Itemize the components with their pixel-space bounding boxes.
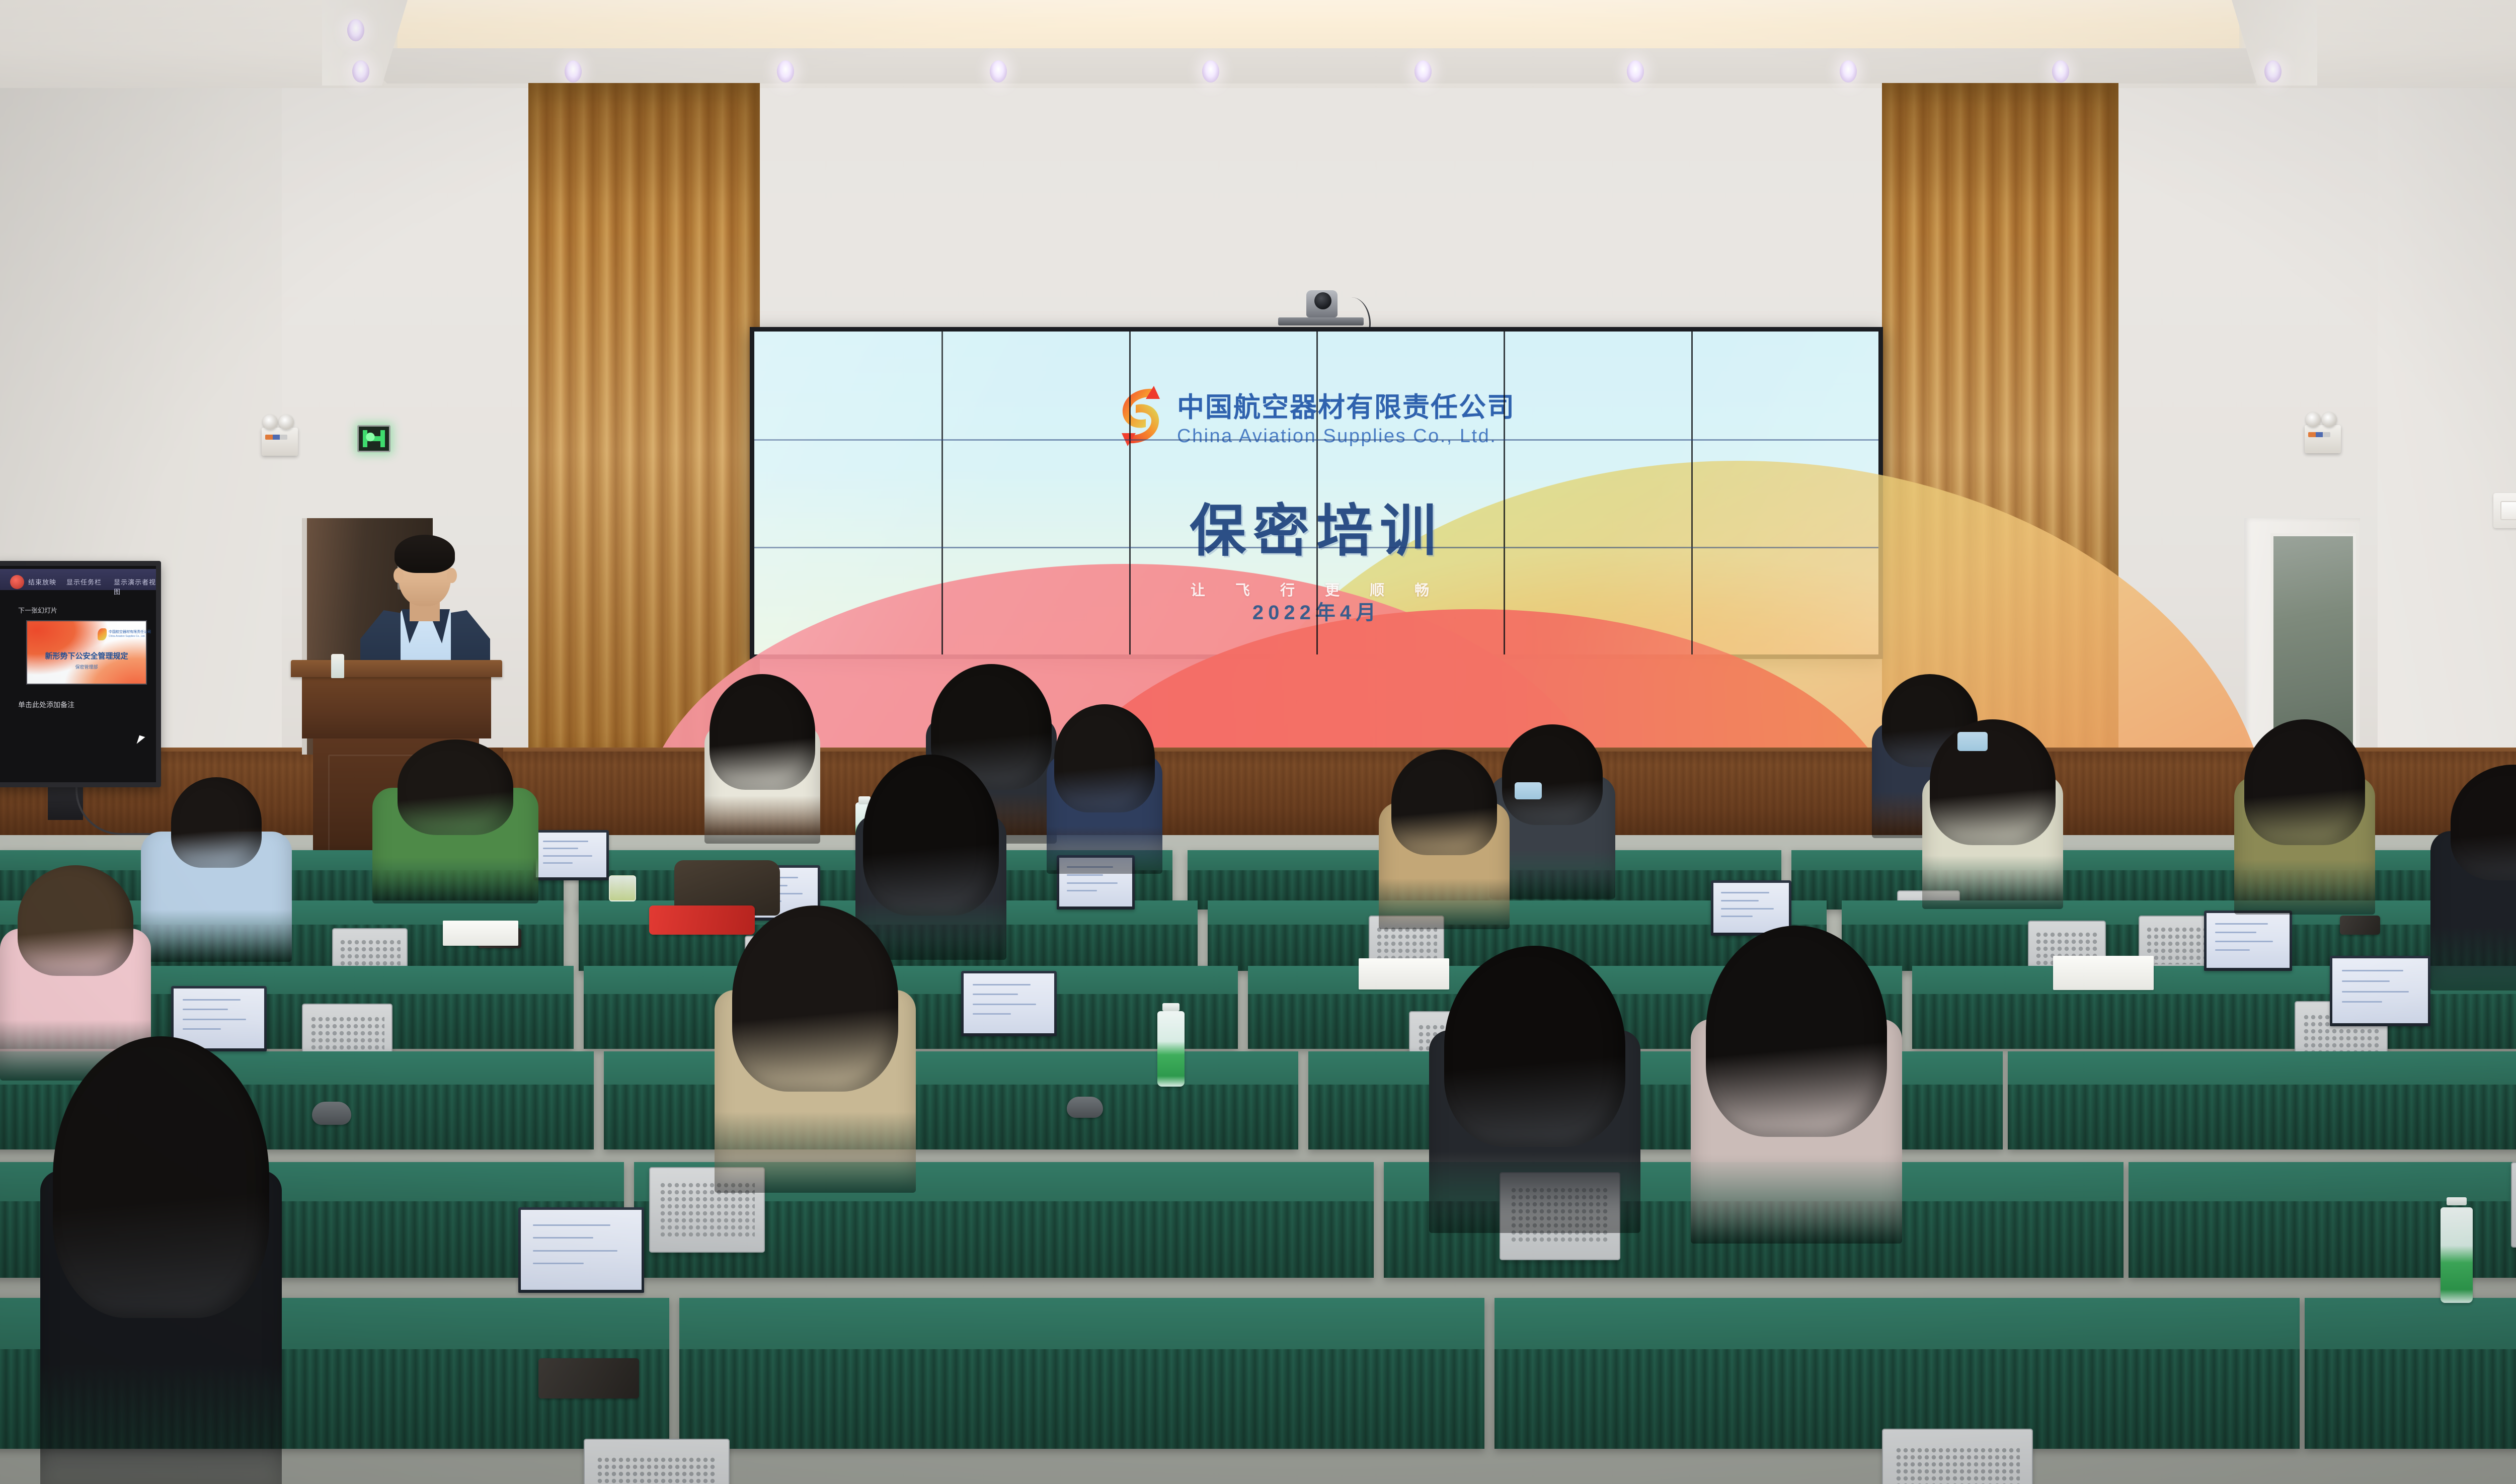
person-head bbox=[1930, 719, 2056, 845]
curtain-right bbox=[1882, 83, 2118, 752]
video-wall-frame bbox=[750, 327, 1883, 659]
person-head bbox=[1706, 926, 1887, 1137]
person-head bbox=[1444, 946, 1625, 1147]
desk-row6-seg4 bbox=[2305, 1298, 2516, 1449]
person-woman-olive-coat-right bbox=[2234, 719, 2375, 911]
running-man-icon bbox=[363, 430, 385, 447]
presenter-notes-placeholder[interactable]: 单击此处添加备注 bbox=[18, 700, 74, 710]
curtain-left bbox=[528, 83, 760, 752]
speaker-ear-left bbox=[394, 568, 404, 583]
phone-1[interactable] bbox=[538, 1358, 639, 1398]
tea-cup-1 bbox=[609, 875, 636, 901]
downlight-6 bbox=[1414, 60, 1432, 83]
person-head bbox=[1502, 724, 1603, 825]
thumbnail-company-cn: 中国航空器材有限责任公司 bbox=[109, 629, 151, 634]
desk-row4-seg4 bbox=[2008, 1051, 2516, 1149]
water-bottle-4 bbox=[2441, 1207, 2473, 1303]
person-woman-tan-coat bbox=[1379, 750, 1510, 926]
speaker-hair bbox=[395, 535, 455, 573]
next-slide-thumbnail[interactable]: 中国航空器材有限责任公司 China Aviation Supplies Co.… bbox=[26, 620, 147, 685]
presenter-toolbar-label-2[interactable]: 显示任务栏 bbox=[66, 577, 102, 587]
video-wall-panel-r1c5[interactable] bbox=[1505, 332, 1691, 438]
desk-top bbox=[1495, 1298, 2300, 1349]
desk-skirt bbox=[604, 1085, 1298, 1149]
video-wall-panel-r2c2[interactable] bbox=[942, 440, 1128, 546]
presenter-toolbar-label-3[interactable]: 显示演示者视图 bbox=[114, 577, 156, 596]
presenter-toolbar-label-1[interactable]: 结束放映 bbox=[28, 577, 56, 587]
mouse-2[interactable] bbox=[1067, 1097, 1103, 1118]
phone-3[interactable] bbox=[2340, 916, 2380, 935]
desk-row6-seg2 bbox=[679, 1298, 1484, 1449]
thumbnail-title: 新形势下公安全管理规定 bbox=[27, 650, 146, 661]
person-head bbox=[171, 777, 262, 868]
emergency-light-indicator bbox=[265, 435, 287, 440]
laptop-screen bbox=[964, 973, 1054, 1033]
ceiling-cove-light bbox=[398, 0, 2239, 54]
ptz-camera-icon bbox=[1278, 289, 1364, 329]
record-icon[interactable] bbox=[10, 575, 24, 589]
person-head bbox=[53, 1036, 269, 1318]
video-wall-panel-r2c6[interactable] bbox=[1692, 440, 1878, 546]
video-wall-panel-r1c1[interactable] bbox=[754, 332, 940, 438]
face-mask-2 bbox=[1515, 782, 1542, 799]
person-head bbox=[710, 674, 815, 790]
thumbnail-subtitle: 保密管理部 bbox=[27, 664, 146, 670]
camera-lens-icon bbox=[1314, 292, 1331, 309]
desk-top bbox=[2305, 1298, 2516, 1349]
video-wall-panel-r3c2[interactable] bbox=[942, 548, 1128, 654]
laptop-5[interactable] bbox=[2204, 911, 2292, 971]
downlight-5 bbox=[1202, 60, 1219, 83]
chair-back-17[interactable] bbox=[584, 1439, 730, 1484]
downlight-10 bbox=[2264, 60, 2282, 83]
desk-row6-seg3 bbox=[1495, 1298, 2300, 1449]
thumbnail-company-en: China Aviation Supplies Co., Ltd. bbox=[109, 635, 145, 638]
papers-3 bbox=[443, 921, 518, 946]
laptop-4[interactable] bbox=[961, 971, 1057, 1036]
wall-switch-plate[interactable] bbox=[2493, 493, 2516, 528]
video-wall-panel-r3c1[interactable] bbox=[754, 548, 940, 654]
desk-top bbox=[2129, 1162, 2516, 1201]
downlight-9 bbox=[2052, 60, 2069, 83]
video-wall-panel-r3c5[interactable] bbox=[1505, 548, 1691, 654]
video-wall-panel-r1c2[interactable] bbox=[942, 332, 1128, 438]
ceiling-soffit bbox=[352, 48, 2290, 84]
video-wall-panel-r3c4[interactable] bbox=[1317, 548, 1504, 654]
person-woman-cream-jacket-front-row bbox=[704, 674, 820, 840]
downlight-4 bbox=[990, 60, 1007, 83]
thumbnail-logo-icon bbox=[98, 628, 107, 640]
desk-top bbox=[679, 1298, 1484, 1349]
laptop-1[interactable] bbox=[533, 830, 609, 880]
desk-top bbox=[1791, 850, 2516, 870]
laptop-6[interactable] bbox=[2330, 956, 2430, 1026]
video-wall-panel-r2c1[interactable] bbox=[754, 440, 940, 546]
papers-2 bbox=[2053, 956, 2154, 990]
desk-skirt bbox=[2008, 1085, 2516, 1149]
person-head bbox=[1391, 750, 1497, 855]
downlight-left-return bbox=[347, 19, 364, 41]
video-wall-panel-r3c3[interactable] bbox=[1130, 548, 1316, 654]
person-head bbox=[1054, 704, 1155, 812]
emergency-light-left bbox=[262, 428, 298, 456]
desk-top bbox=[604, 1051, 1298, 1085]
person-woman-cream-blouse-right bbox=[1922, 719, 2063, 905]
desk-skirt bbox=[2305, 1349, 2516, 1449]
mouse-1[interactable] bbox=[312, 1102, 351, 1125]
person-woman-tweed-jacket-foreground bbox=[1691, 926, 1902, 1238]
person-woman-patterned-green-jacket bbox=[372, 739, 538, 900]
laptop-screen bbox=[536, 833, 606, 877]
desk-top bbox=[2008, 1051, 2516, 1085]
person-woman-black-top-center bbox=[1429, 946, 1640, 1227]
speaker-ear-right bbox=[447, 568, 457, 583]
emergency-light-indicator-right bbox=[2308, 432, 2330, 437]
podium-body bbox=[302, 675, 491, 738]
video-wall-panel-r2c5[interactable] bbox=[1505, 440, 1691, 546]
laptop-screen bbox=[2207, 913, 2290, 968]
water-bottle-2 bbox=[1157, 1011, 1185, 1087]
camera-mount-arm bbox=[1278, 317, 1364, 325]
video-wall-panels[interactable] bbox=[754, 332, 1878, 654]
video-wall-panel-r2c3[interactable] bbox=[1130, 440, 1316, 546]
video-wall-panel-r1c4[interactable] bbox=[1317, 332, 1504, 438]
chair-back-15[interactable] bbox=[2511, 1162, 2516, 1248]
video-wall-panel-r2c4[interactable] bbox=[1317, 440, 1504, 546]
video-wall-panel-r1c6[interactable] bbox=[1692, 332, 1878, 438]
exit-sign bbox=[357, 425, 390, 452]
podium-water-bottle bbox=[331, 654, 344, 678]
downlight-2 bbox=[565, 60, 582, 83]
desk-row4-seg2 bbox=[604, 1051, 1298, 1149]
downlight-8 bbox=[1840, 60, 1857, 83]
person-head bbox=[18, 865, 133, 976]
laptop-screen bbox=[2332, 958, 2428, 1023]
conference-room-photo: 中国航空器材有限责任公司 China Aviation Supplies Co.… bbox=[0, 0, 2516, 1484]
person-head bbox=[2451, 765, 2516, 880]
mouse-cursor-icon bbox=[137, 735, 145, 746]
person-woman-foreground-left-back bbox=[40, 1036, 282, 1484]
emergency-light-right bbox=[2305, 425, 2341, 453]
face-mask-1 bbox=[1957, 732, 1988, 751]
person-woman-beige-trench-mid bbox=[715, 905, 916, 1187]
chair-back-16[interactable] bbox=[1882, 1429, 2033, 1484]
downlight-1 bbox=[352, 60, 369, 83]
desk-skirt bbox=[679, 1349, 1484, 1449]
laptop-screen bbox=[521, 1210, 642, 1290]
presenter-monitor-screen: 结束放映 显示任务栏 显示演示者视图 下一张幻灯片 中国航空器材有限责任公司 C… bbox=[0, 566, 156, 782]
person-man-light-blue-shirt bbox=[141, 777, 292, 958]
podium-top bbox=[291, 660, 502, 677]
person-man-black-sweater-right bbox=[2430, 765, 2516, 986]
right-wall bbox=[2378, 0, 2516, 855]
person-head bbox=[398, 739, 513, 835]
person-man-navy-hoodie bbox=[1047, 704, 1162, 870]
person-head bbox=[2244, 719, 2365, 845]
laptop-9[interactable] bbox=[518, 1207, 644, 1293]
video-wall-panel-r1c3[interactable] bbox=[1130, 332, 1316, 438]
next-slide-label: 下一张幻灯片 bbox=[18, 605, 57, 615]
presenter-toolbar[interactable]: 结束放映 显示任务栏 显示演示者视图 bbox=[0, 569, 156, 590]
video-wall-panel-r3c6[interactable] bbox=[1692, 548, 1878, 654]
presenter-monitor[interactable]: 结束放映 显示任务栏 显示演示者视图 下一张幻灯片 中国航空器材有限责任公司 C… bbox=[0, 561, 161, 787]
person-head bbox=[732, 905, 898, 1092]
person-head bbox=[863, 755, 999, 916]
